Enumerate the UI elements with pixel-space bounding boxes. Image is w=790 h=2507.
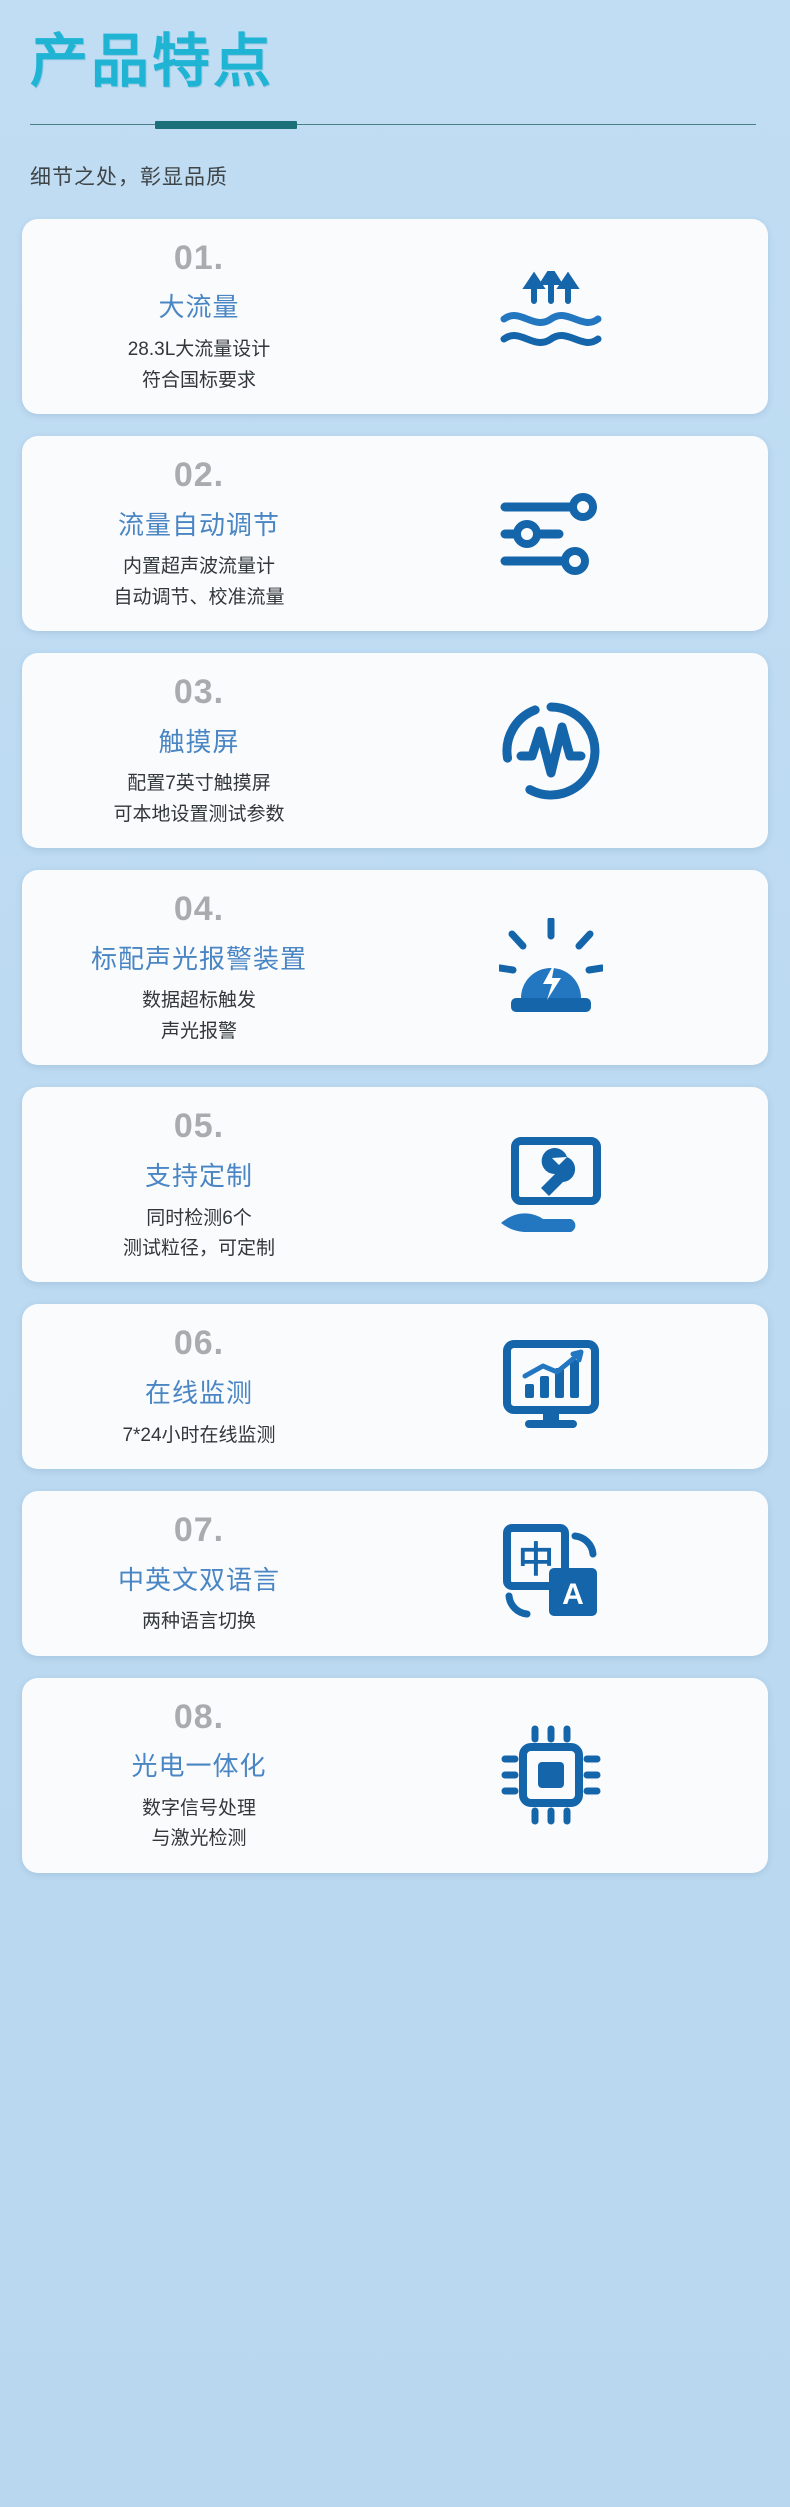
waveform-circle-icon bbox=[501, 701, 601, 801]
page-title: 产品特点 bbox=[30, 30, 760, 95]
feature-number: 05. bbox=[46, 1105, 352, 1148]
feature-heading: 大流量 bbox=[46, 291, 352, 325]
custom-wrench-hand-icon bbox=[497, 1137, 605, 1233]
feature-card: 04. 标配声光报警装置 数据超标触发 声光报警 bbox=[22, 870, 768, 1065]
translate-language-icon: 中 A bbox=[499, 1524, 603, 1622]
feature-number: 06. bbox=[46, 1322, 352, 1365]
feature-card-text: 06. 在线监测 7*24小时在线监测 bbox=[22, 1304, 352, 1469]
feature-icon-wrap bbox=[352, 918, 768, 1018]
feature-card: 07. 中英文双语言 两种语言切换 中 A bbox=[22, 1491, 768, 1656]
svg-text:A: A bbox=[562, 1578, 584, 1611]
feature-description-line: 28.3L大流量设计 bbox=[46, 335, 352, 365]
feature-description-line: 与激光检测 bbox=[46, 1824, 352, 1854]
feature-card: 03. 触摸屏 配置7英寸触摸屏 可本地设置测试参数 bbox=[22, 653, 768, 848]
feature-icon-wrap bbox=[352, 1137, 768, 1233]
title-divider bbox=[30, 121, 756, 129]
monitor-chart-icon bbox=[499, 1340, 603, 1434]
divider-accent-bar bbox=[155, 121, 297, 129]
feature-card-text: 08. 光电一体化 数字信号处理 与激光检测 bbox=[22, 1678, 352, 1873]
feature-number: 08. bbox=[46, 1696, 352, 1739]
feature-icon-wrap bbox=[352, 701, 768, 801]
feature-description: 两种语言切换 bbox=[46, 1607, 352, 1637]
feature-description-line: 数据超标触发 bbox=[46, 986, 352, 1016]
feature-description-line: 可本地设置测试参数 bbox=[46, 800, 352, 830]
feature-card: 01. 大流量 28.3L大流量设计 符合国标要求 bbox=[22, 219, 768, 414]
feature-description-line: 两种语言切换 bbox=[46, 1607, 352, 1637]
feature-card-text: 07. 中英文双语言 两种语言切换 bbox=[22, 1491, 352, 1656]
feature-heading: 在线监测 bbox=[46, 1377, 352, 1411]
feature-description: 配置7英寸触摸屏 可本地设置测试参数 bbox=[46, 769, 352, 830]
feature-number: 03. bbox=[46, 671, 352, 714]
feature-description-line: 同时检测6个 bbox=[46, 1204, 352, 1234]
feature-description-line: 符合国标要求 bbox=[46, 366, 352, 396]
chip-processor-icon bbox=[501, 1725, 601, 1825]
feature-description: 内置超声波流量计 自动调节、校准流量 bbox=[46, 552, 352, 613]
feature-icon-wrap bbox=[352, 271, 768, 361]
product-features-page: 产品特点 细节之处，彰显品质 01. 大流量 28.3L大流量设计 符合国标要求 bbox=[0, 0, 790, 2507]
page-header: 产品特点 细节之处，彰显品质 bbox=[0, 0, 790, 191]
feature-card: 08. 光电一体化 数字信号处理 与激光检测 bbox=[22, 1678, 768, 1873]
page-subtitle: 细节之处，彰显品质 bbox=[30, 161, 760, 191]
sliders-adjust-icon bbox=[497, 491, 605, 577]
feature-heading: 支持定制 bbox=[46, 1160, 352, 1194]
feature-card-text: 02. 流量自动调节 内置超声波流量计 自动调节、校准流量 bbox=[22, 436, 352, 631]
divider-line bbox=[30, 124, 756, 125]
feature-description-line: 数字信号处理 bbox=[46, 1794, 352, 1824]
feature-heading: 流量自动调节 bbox=[46, 509, 352, 543]
svg-text:中: 中 bbox=[518, 1540, 554, 1581]
airflow-waves-icon bbox=[496, 271, 606, 361]
feature-card: 05. 支持定制 同时检测6个 测试粒径，可定制 bbox=[22, 1087, 768, 1282]
feature-description: 28.3L大流量设计 符合国标要求 bbox=[46, 335, 352, 396]
alarm-beacon-icon bbox=[499, 918, 603, 1018]
feature-heading: 触摸屏 bbox=[46, 726, 352, 760]
feature-icon-wrap bbox=[352, 1725, 768, 1825]
feature-card-text: 05. 支持定制 同时检测6个 测试粒径，可定制 bbox=[22, 1087, 352, 1282]
feature-description: 数据超标触发 声光报警 bbox=[46, 986, 352, 1047]
feature-card-text: 04. 标配声光报警装置 数据超标触发 声光报警 bbox=[22, 870, 352, 1065]
feature-card-text: 03. 触摸屏 配置7英寸触摸屏 可本地设置测试参数 bbox=[22, 653, 352, 848]
feature-number: 02. bbox=[46, 454, 352, 497]
feature-icon-wrap: 中 A bbox=[352, 1524, 768, 1622]
feature-card: 02. 流量自动调节 内置超声波流量计 自动调节、校准流量 bbox=[22, 436, 768, 631]
feature-description-line: 自动调节、校准流量 bbox=[46, 583, 352, 613]
feature-description: 数字信号处理 与激光检测 bbox=[46, 1794, 352, 1855]
feature-description: 7*24小时在线监测 bbox=[46, 1421, 352, 1451]
feature-description-line: 配置7英寸触摸屏 bbox=[46, 769, 352, 799]
feature-card-list: 01. 大流量 28.3L大流量设计 符合国标要求 bbox=[0, 219, 790, 1873]
feature-heading: 中英文双语言 bbox=[46, 1564, 352, 1598]
feature-description-line: 内置超声波流量计 bbox=[46, 552, 352, 582]
feature-description-line: 声光报警 bbox=[46, 1017, 352, 1047]
feature-icon-wrap bbox=[352, 491, 768, 577]
feature-description: 同时检测6个 测试粒径，可定制 bbox=[46, 1204, 352, 1265]
feature-card: 06. 在线监测 7*24小时在线监测 bbox=[22, 1304, 768, 1469]
feature-card-text: 01. 大流量 28.3L大流量设计 符合国标要求 bbox=[22, 219, 352, 414]
feature-number: 01. bbox=[46, 237, 352, 280]
feature-heading: 标配声光报警装置 bbox=[46, 943, 352, 977]
feature-description-line: 测试粒径，可定制 bbox=[46, 1234, 352, 1264]
feature-icon-wrap bbox=[352, 1340, 768, 1434]
feature-number: 07. bbox=[46, 1509, 352, 1552]
feature-description-line: 7*24小时在线监测 bbox=[46, 1421, 352, 1451]
feature-heading: 光电一体化 bbox=[46, 1750, 352, 1784]
feature-number: 04. bbox=[46, 888, 352, 931]
